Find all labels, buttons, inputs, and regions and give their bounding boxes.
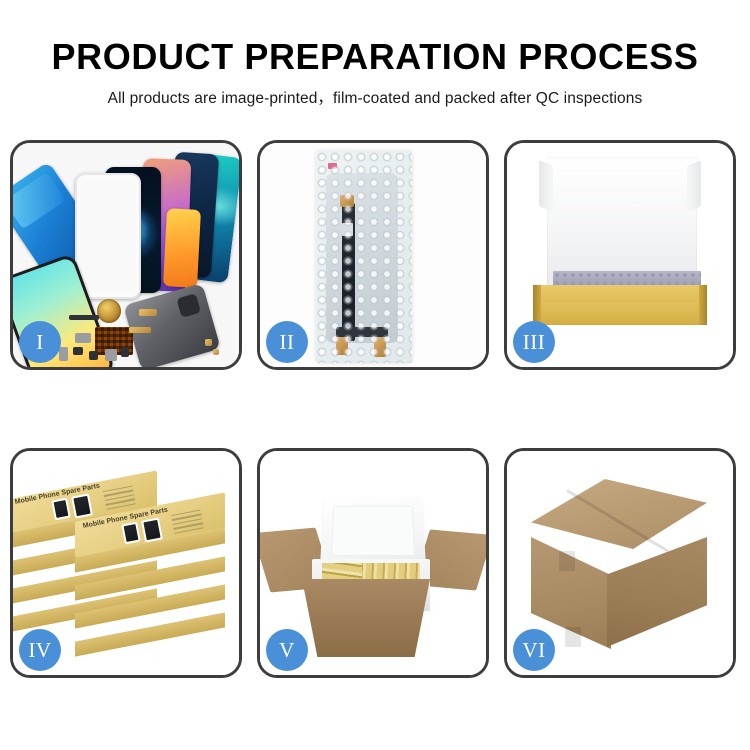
process-step-card-2[interactable]: II — [257, 140, 489, 370]
process-step-card-5[interactable]: V — [257, 448, 489, 678]
white-box-lid-icon — [547, 157, 697, 287]
lid-left-flap-icon — [539, 160, 553, 212]
bubble-wrap-bag-icon — [316, 151, 412, 363]
step-badge-6: VI — [513, 629, 555, 671]
pink-qc-sticker-icon — [328, 163, 337, 169]
lower-connector-icon — [336, 335, 348, 355]
step-badge-5: V — [266, 629, 308, 671]
step-badge-4: IV — [19, 629, 61, 671]
carton-flap-tab-icon — [565, 627, 581, 647]
screw-pack-icon — [59, 347, 68, 361]
small-screw-icon — [205, 339, 212, 346]
flex-cable-icon — [129, 327, 151, 333]
sim-tray-icon — [121, 347, 129, 357]
process-step-card-3[interactable]: III — [504, 140, 736, 370]
carton-body-icon — [302, 579, 430, 657]
lower-connector-icon — [374, 337, 386, 357]
small-screw-icon — [213, 349, 219, 355]
process-step-card-1[interactable]: I — [10, 140, 242, 370]
page-subtitle: All products are image-printed，film-coat… — [0, 77, 750, 108]
taptic-engine-icon — [89, 351, 98, 360]
flex-connector-pad-icon — [340, 195, 354, 207]
driver-ic-icon — [342, 223, 353, 236]
bottom-flex-bar-icon — [336, 327, 388, 337]
page-header: PRODUCT PREPARATION PROCESS All products… — [0, 0, 750, 108]
box-print-screen-icon — [141, 517, 163, 542]
orange-gradient-phone-icon — [163, 208, 201, 288]
speaker-icon — [73, 347, 83, 355]
yellow-box-left-end-icon — [533, 285, 541, 325]
step-badge-1: I — [19, 321, 61, 363]
lcd-assembly-icon — [326, 173, 398, 343]
white-frame-phone-icon — [75, 173, 141, 299]
step-badge-3: III — [513, 321, 555, 363]
box-print-screen-icon — [71, 493, 93, 518]
product-preparation-page: PRODUCT PREPARATION PROCESS All products… — [0, 0, 750, 750]
vibration-motor-icon — [97, 299, 121, 323]
foam-box-lid-icon — [320, 497, 426, 567]
page-title: PRODUCT PREPARATION PROCESS — [0, 0, 750, 77]
battery-cell-icon — [105, 349, 117, 361]
gold-connector-icon — [139, 309, 157, 316]
process-step-grid: I II — [10, 140, 740, 678]
lid-right-flap-icon — [687, 160, 701, 212]
camera-module-icon — [75, 333, 91, 343]
yellow-box-front-icon — [539, 303, 707, 325]
antenna-strip-icon — [69, 315, 99, 320]
process-step-card-6[interactable]: VI — [504, 448, 736, 678]
carton-right-face-icon — [607, 537, 707, 647]
process-step-card-4[interactable]: Mobile Phone Spare Parts Mobile Phone Sp… — [10, 448, 242, 678]
carton-top-face-icon — [531, 479, 707, 549]
step-badge-2: II — [266, 321, 308, 363]
yellow-box-right-end-icon — [699, 285, 707, 325]
carton-flap-tab-icon — [559, 551, 575, 571]
